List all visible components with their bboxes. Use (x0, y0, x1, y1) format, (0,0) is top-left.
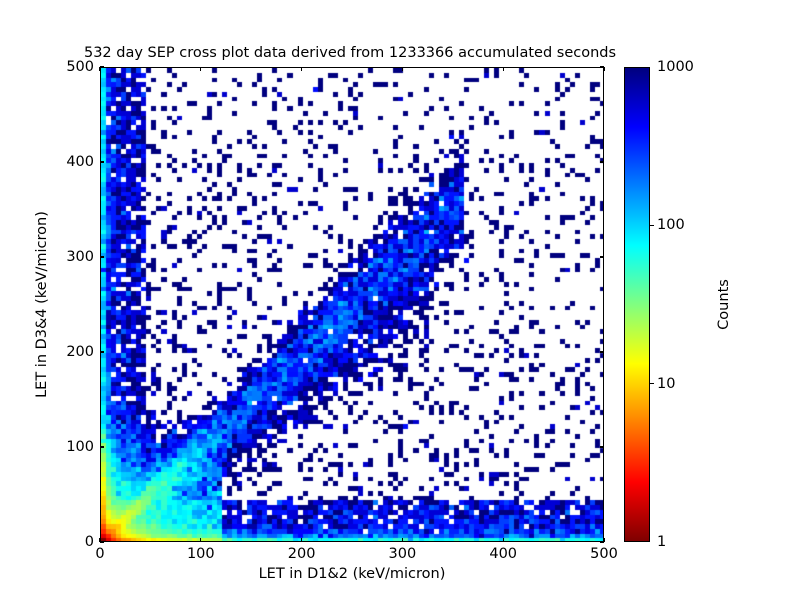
chart-title-line-1: 532 day SEP cross plot data derived from… (0, 44, 700, 63)
colorbar-tick-10 (650, 383, 654, 384)
y-tick-right-500 (600, 66, 604, 67)
y-tick-right-300 (600, 256, 604, 257)
x-tick-100 (200, 538, 201, 542)
colorbar-tick-label-10: 10 (657, 376, 675, 392)
x-tick-label-200: 200 (288, 546, 316, 562)
x-tick-top-300 (402, 67, 403, 71)
x-tick-label-300: 300 (389, 546, 417, 562)
y-axis-label: LET in D3&4 (keV/micron) (34, 67, 50, 542)
x-tick-top-400 (503, 67, 504, 71)
figure-canvas: 532 day SEP cross plot data derived from… (0, 0, 800, 600)
x-axis-label: LET in D1&2 (keV/micron) (100, 566, 604, 582)
y-tick-0 (100, 541, 104, 542)
colorbar-tick-label-1000: 1000 (657, 59, 694, 75)
x-tick-label-400: 400 (489, 546, 517, 562)
y-tick-label-500: 500 (66, 59, 94, 75)
colorbar (624, 67, 650, 542)
plot-axes (100, 67, 604, 542)
y-tick-label-0: 0 (85, 534, 94, 550)
y-tick-100 (100, 446, 104, 447)
y-tick-200 (100, 351, 104, 352)
colorbar-tick-100 (650, 225, 654, 226)
y-tick-300 (100, 256, 104, 257)
colorbar-tick-label-100: 100 (657, 217, 685, 233)
y-tick-label-200: 200 (66, 344, 94, 360)
x-tick-300 (402, 538, 403, 542)
x-tick-top-200 (301, 67, 302, 71)
y-tick-right-400 (600, 161, 604, 162)
x-tick-top-100 (200, 67, 201, 71)
scatter-heatmap-canvas (101, 68, 604, 542)
y-tick-right-100 (600, 446, 604, 447)
x-tick-400 (503, 538, 504, 542)
x-tick-label-0: 0 (95, 546, 104, 562)
colorbar-tick-label-1: 1 (657, 534, 666, 550)
y-tick-label-400: 400 (66, 154, 94, 170)
x-tick-label-100: 100 (187, 546, 215, 562)
y-tick-label-300: 300 (66, 249, 94, 265)
colorbar-gradient (625, 68, 649, 541)
y-tick-right-200 (600, 351, 604, 352)
x-tick-200 (301, 538, 302, 542)
y-tick-500 (100, 66, 104, 67)
y-tick-label-100: 100 (66, 439, 94, 455)
x-tick-label-500: 500 (590, 546, 618, 562)
y-tick-400 (100, 161, 104, 162)
y-tick-right-0 (600, 541, 604, 542)
x-tick-top-0 (99, 67, 100, 71)
colorbar-label: Counts (716, 67, 732, 542)
x-tick-top-500 (603, 67, 604, 71)
